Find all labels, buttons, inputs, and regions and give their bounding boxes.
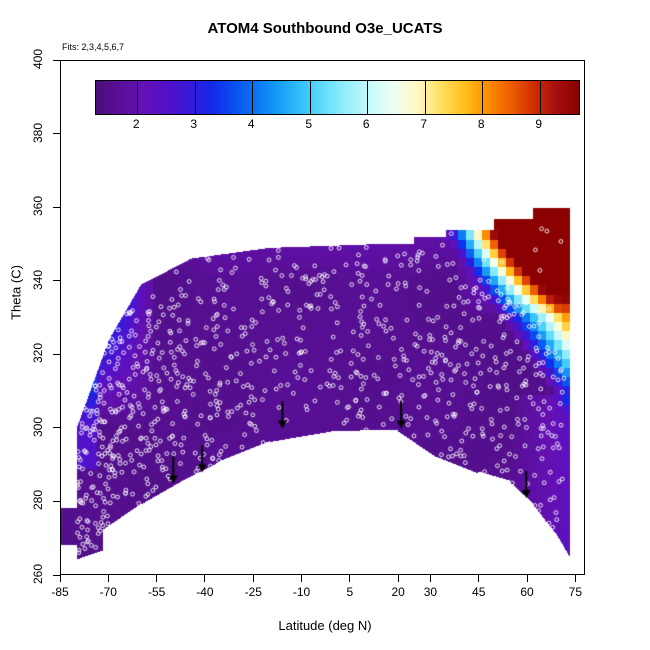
x-tick-mark [398, 575, 399, 582]
page-title: ATOM4 Southbound O3e_UCATS [0, 20, 650, 37]
x-tick-mark [204, 575, 205, 582]
colorbar-tick-label: 5 [294, 117, 324, 131]
y-tick-mark [53, 133, 60, 134]
plot-area [60, 60, 585, 575]
chart-root: ATOM4 Southbound O3e_UCATS Fits: 2,3,4,5… [0, 0, 650, 650]
annotation-fits: Fits: 2,3,4,5,6,7 [62, 42, 124, 52]
colorbar-separator [367, 81, 368, 114]
x-tick-label: 45 [459, 585, 499, 599]
colorbar-tick-label: 4 [236, 117, 266, 131]
y-tick-label: 340 [8, 273, 48, 287]
heatmap-canvas [61, 61, 584, 574]
x-tick-mark [253, 575, 254, 582]
x-tick-mark [156, 575, 157, 582]
colorbar-tick-label: 9 [524, 117, 554, 131]
x-tick-label: -55 [137, 585, 177, 599]
y-tick-label: 360 [8, 199, 48, 213]
x-axis-label: Latitude (deg N) [0, 618, 650, 633]
colorbar-separator [540, 81, 541, 114]
y-axis-label: Theta (C) [9, 233, 24, 353]
colorbar-tick-label: 7 [409, 117, 439, 131]
x-tick-label: -40 [185, 585, 225, 599]
colorbar-tick-label: 2 [121, 117, 151, 131]
colorbar-separator [482, 81, 483, 114]
colorbar-tick-label: 3 [179, 117, 209, 131]
colorbar-separator [310, 81, 311, 114]
colorbar-tick-label: 6 [351, 117, 381, 131]
y-tick-label: 300 [8, 420, 48, 434]
colorbar-separator [137, 81, 138, 114]
x-tick-label: -70 [88, 585, 128, 599]
x-tick-mark [478, 575, 479, 582]
colorbar-separator [252, 81, 253, 114]
x-tick-mark [527, 575, 528, 582]
y-tick-label: 380 [8, 126, 48, 140]
y-tick-mark [53, 207, 60, 208]
y-tick-mark [53, 60, 60, 61]
colorbar [95, 80, 580, 115]
colorbar-tick-label: 8 [466, 117, 496, 131]
x-tick-mark [349, 575, 350, 582]
y-tick-label: 400 [8, 52, 48, 66]
colorbar-gradient [96, 81, 579, 114]
x-tick-label: -85 [40, 585, 80, 599]
x-tick-mark [301, 575, 302, 582]
x-tick-label: 30 [410, 585, 450, 599]
y-tick-label: 320 [8, 346, 48, 360]
x-tick-label: -10 [282, 585, 322, 599]
x-tick-mark [575, 575, 576, 582]
x-tick-label: 60 [507, 585, 547, 599]
x-tick-label: -25 [233, 585, 273, 599]
y-tick-mark [53, 280, 60, 281]
x-tick-label: 75 [555, 585, 595, 599]
colorbar-separator [425, 81, 426, 114]
y-tick-mark [53, 427, 60, 428]
x-tick-label: 5 [330, 585, 370, 599]
y-tick-mark [53, 501, 60, 502]
y-tick-label: 260 [8, 567, 48, 581]
colorbar-separator [195, 81, 196, 114]
y-tick-label: 280 [8, 493, 48, 507]
y-tick-mark [53, 354, 60, 355]
x-tick-mark [60, 575, 61, 582]
x-tick-mark [108, 575, 109, 582]
x-tick-mark [430, 575, 431, 582]
